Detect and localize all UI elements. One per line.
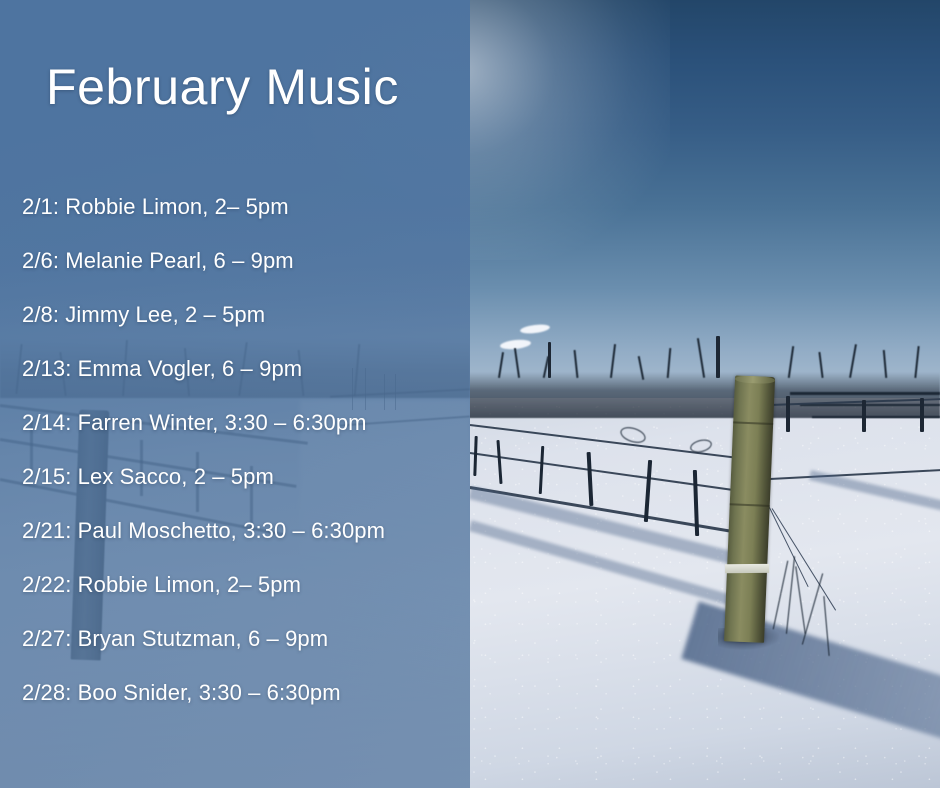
far-trellis-post <box>716 336 720 378</box>
list-item: 2/8: Jimmy Lee, 2 – 5pm <box>22 304 472 358</box>
far-trellis-post <box>548 342 551 378</box>
post-ring <box>730 503 770 507</box>
list-item: 2/13: Emma Vogler, 6 – 9pm <box>22 358 472 412</box>
list-item: 2/6: Melanie Pearl, 6 – 9pm <box>22 250 472 304</box>
poster: February Music 2/1: Robbie Limon, 2– 5pm… <box>0 0 940 788</box>
poster-content: February Music 2/1: Robbie Limon, 2– 5pm… <box>0 0 470 788</box>
list-item: 2/28: Boo Snider, 3:30 – 6:30pm <box>22 682 472 736</box>
list-item: 2/1: Robbie Limon, 2– 5pm <box>22 196 472 250</box>
list-item: 2/22: Robbie Limon, 2– 5pm <box>22 574 472 628</box>
post-ring <box>733 421 773 425</box>
post-white-band <box>725 564 769 573</box>
list-item: 2/14: Farren Winter, 3:30 – 6:30pm <box>22 412 472 466</box>
far-vine-row <box>790 392 940 395</box>
far-trellis-post <box>786 396 790 432</box>
post-top <box>735 375 775 384</box>
page-title: February Music <box>46 62 399 112</box>
list-item: 2/27: Bryan Stutzman, 6 – 9pm <box>22 628 472 682</box>
far-trellis-post <box>920 398 924 432</box>
far-trellis-post <box>862 400 866 432</box>
list-item: 2/15: Lex Sacco, 2 – 5pm <box>22 466 472 520</box>
far-vine-row <box>800 404 940 406</box>
music-schedule-list: 2/1: Robbie Limon, 2– 5pm 2/6: Melanie P… <box>22 196 472 736</box>
list-item: 2/21: Paul Moschetto, 3:30 – 6:30pm <box>22 520 472 574</box>
